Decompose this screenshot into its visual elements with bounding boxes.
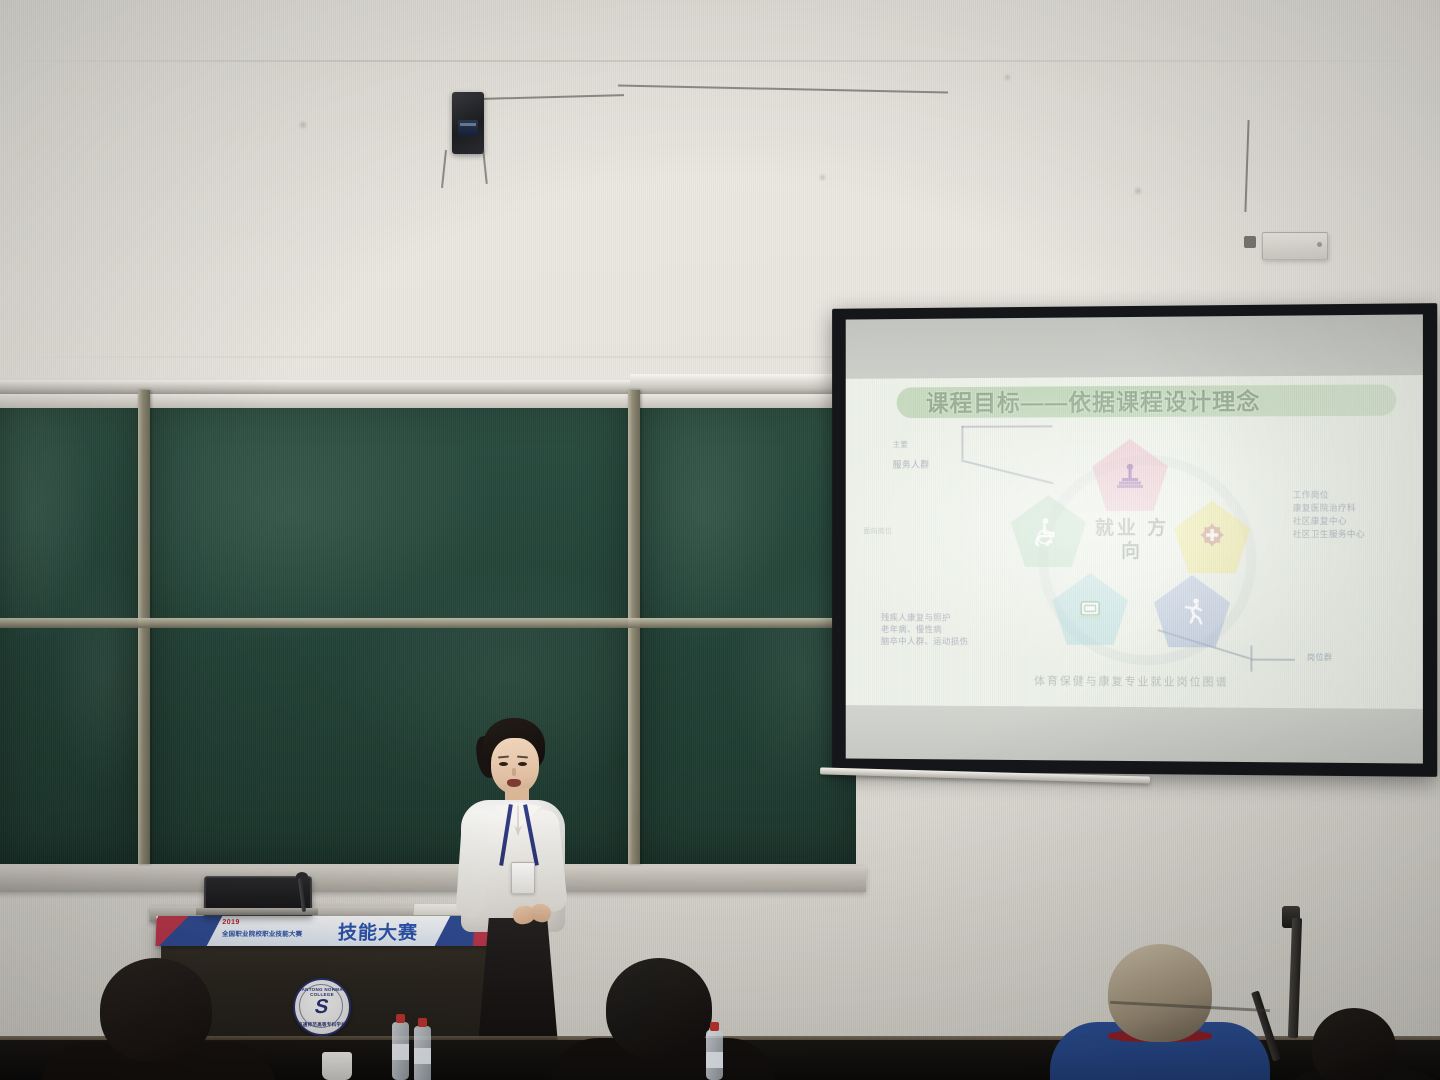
blackboard-mid-rail: [0, 618, 856, 628]
banner-swoosh-left: [155, 916, 224, 946]
blackboard-panel-right: [640, 394, 856, 864]
chalk-haze: [0, 394, 140, 864]
leader-line-6: [1250, 646, 1252, 672]
audience-member-center: [560, 958, 800, 1080]
medical-cross-icon: [1197, 522, 1227, 552]
blackboard-strip-right: [640, 394, 856, 408]
banner-subtitle: 全国职业院校职业技能大赛: [222, 928, 303, 938]
slide-annotation-small-right: 岗位群: [1307, 653, 1333, 663]
classroom-scene: 课程目标——依据课程设计理念 主要 服务人群 面向岗位 工作岗位 康复医院治疗科…: [0, 0, 1440, 1080]
presenter-eye-left: [499, 762, 508, 766]
bottle-cap: [710, 1022, 719, 1031]
blackboard: [0, 380, 856, 880]
leader-line-3: [961, 460, 1053, 484]
pentagon-top: [1092, 439, 1168, 511]
audience-head: [606, 958, 712, 1058]
wall-mounted-receiver: [452, 92, 484, 154]
projector-junction-box: [1262, 232, 1328, 260]
package-box-icon: [1075, 594, 1105, 624]
podium-laptop-base: [196, 908, 318, 915]
annotation-small-label: 主要: [893, 440, 930, 450]
running-person-icon: [1177, 596, 1207, 626]
presenter-nose: [512, 768, 516, 776]
presentation-slide: 课程目标——依据课程设计理念 主要 服务人群 面向岗位 工作岗位 康复医院治疗科…: [846, 375, 1423, 709]
wall-mark-2: [1005, 75, 1010, 80]
wall-mark-3: [1135, 188, 1141, 194]
water-bottle-left: [392, 1022, 409, 1080]
wall-seam-top: [0, 60, 1440, 62]
wall-mark-1: [300, 122, 306, 128]
banner-main-title: 技能大赛: [338, 918, 419, 945]
slide-bottom-caption: 体育保健与康复专业就业岗位图谱: [846, 675, 1423, 688]
blackboard-panel-left: [0, 394, 140, 864]
slide-annotation-left-top: 主要 服务人群: [893, 430, 930, 480]
leader-line-5: [1250, 659, 1294, 661]
bottle-label: [392, 1044, 409, 1060]
slide-annotation-right: 工作岗位 康复医院治疗科 社区康复中心 社区卫生服务中心: [1293, 489, 1365, 541]
banner-year: 2019: [222, 919, 240, 926]
paper-cup: [322, 1052, 352, 1080]
bottle-label: [414, 1048, 431, 1064]
blackboard-bottom-ledge: [0, 866, 866, 892]
audience-head: [100, 958, 212, 1062]
presenter-eye-right: [518, 762, 527, 766]
screen-letterbox-top: [846, 314, 1423, 380]
emblem-arc-bottom: 南通师范高等专科学校: [295, 1022, 349, 1028]
podium-award-icon: [1115, 460, 1145, 490]
projection-screen: 课程目标——依据课程设计理念 主要 服务人群 面向岗位 工作岗位 康复医院治疗科…: [832, 303, 1437, 777]
blackboard-top-rail-right: [630, 374, 856, 388]
slide-annotation-faint-left: 面向岗位: [863, 527, 892, 537]
diagram-center-label: 就业 方向: [1090, 517, 1174, 563]
blackboard-strip-center: [150, 394, 630, 408]
wheelchair-icon: [1034, 516, 1064, 546]
wall-mark-4: [820, 175, 825, 180]
water-bottle-center: [706, 1030, 723, 1080]
bottle-cap: [396, 1014, 405, 1023]
projection-screen-surface: 课程目标——依据课程设计理念 主要 服务人群 面向岗位 工作岗位 康复医院治疗科…: [846, 314, 1423, 763]
slide-annotation-left-bottom: 残疾人康复与照护 老年病、慢性病 脑卒中人群、运动损伤: [881, 611, 968, 647]
bottle-cap: [418, 1018, 427, 1027]
audience-member-far-right: [1290, 1000, 1440, 1080]
audience-member-right: [1056, 944, 1286, 1080]
leader-line-2: [961, 425, 1052, 427]
audience-head: [1312, 1008, 1396, 1080]
blackboard-strip-left: [0, 394, 140, 408]
annotation-service-group: 服务人群: [893, 460, 930, 470]
institution-emblem: NANTONG NORMAL COLLEGE S 南通师范高等专科学校: [293, 978, 351, 1036]
presenter-id-badge: [511, 862, 535, 894]
slide-title: 课程目标——依据课程设计理念: [926, 386, 1396, 417]
presenter-mouth: [507, 779, 521, 787]
screen-letterbox-bottom: [846, 703, 1423, 763]
wall-plug-icon: [1244, 236, 1256, 248]
podium-banner: 2019 全国职业院校职业技能大赛 技能大赛: [155, 916, 504, 946]
water-bottle-right: [414, 1026, 431, 1080]
leader-line-1: [961, 426, 962, 460]
chalk-haze: [640, 394, 856, 864]
audience-member-left: [30, 958, 286, 1080]
bottle-label: [706, 1052, 723, 1068]
receiver-display: [458, 120, 478, 136]
audience-head: [1108, 944, 1212, 1042]
